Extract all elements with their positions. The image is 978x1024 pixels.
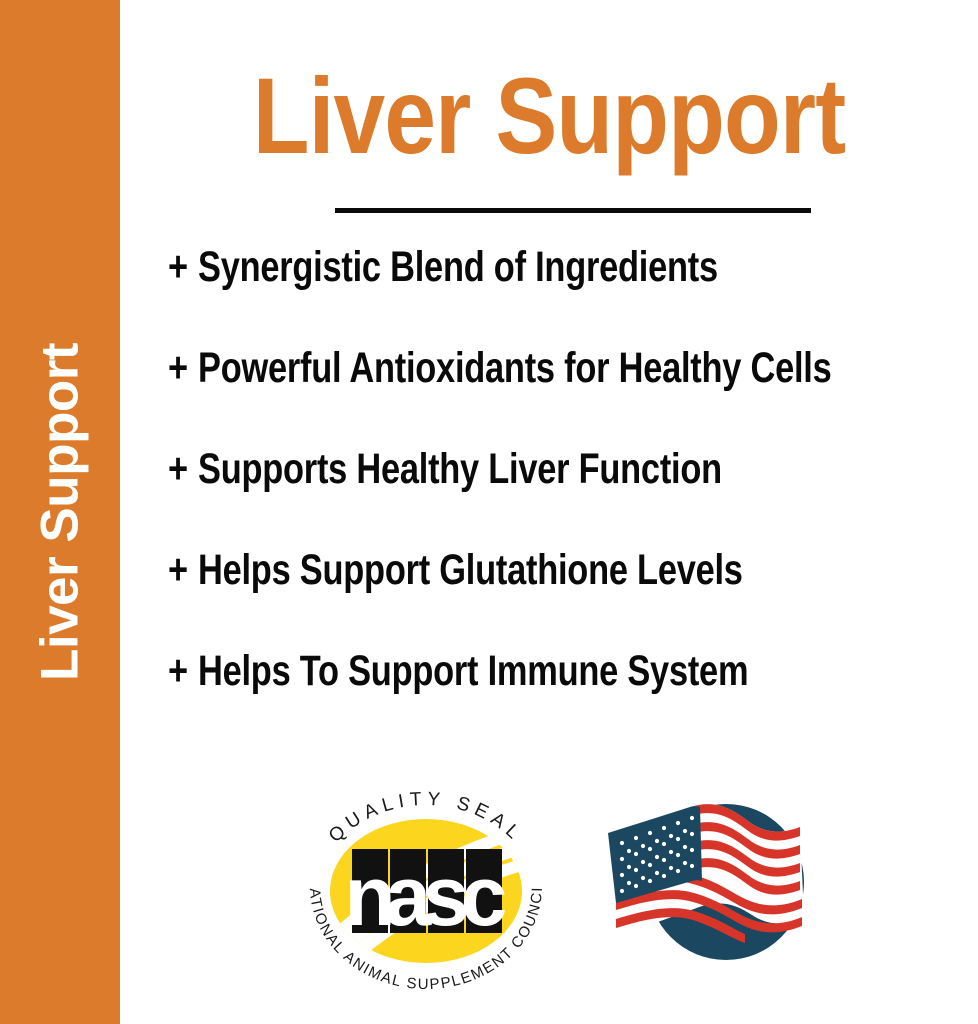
sidebar-vertical-product-name: Liver Support <box>30 343 91 681</box>
nasc-wordmark: n a s c <box>344 849 507 943</box>
plus-icon: + <box>168 549 189 592</box>
list-item: + Helps To Support Immune System <box>168 650 978 751</box>
page-title: Liver Support <box>180 62 918 170</box>
list-item: + Supports Healthy Liver Function <box>168 448 978 549</box>
list-item: + Helps Support Glutathione Levels <box>168 549 978 650</box>
list-item: + Synergistic Blend of Ingredients <box>168 246 978 347</box>
benefits-list: + Synergistic Blend of Ingredients + Pow… <box>168 246 978 751</box>
benefit-label: Supports Healthy Liver Function <box>198 448 722 491</box>
benefit-label: Helps Support Glutathione Levels <box>198 549 743 592</box>
sidebar-orange-band: Liver Support <box>0 0 120 1024</box>
benefit-label: Powerful Antioxidants for Healthy Cells <box>198 347 832 390</box>
benefit-label: Synergistic Blend of Ingredients <box>198 246 718 289</box>
benefit-label: Helps To Support Immune System <box>198 650 748 693</box>
plus-icon: + <box>168 650 189 693</box>
svg-text:c: c <box>461 849 508 943</box>
nasc-quality-seal-icon: n a s c QUALITY SEAL NATIONAL ANIMAL SUP… <box>290 783 562 983</box>
certification-logo-strip: n a s c QUALITY SEAL NATIONAL ANIMAL SUP… <box>120 775 978 990</box>
american-flag-icon <box>598 785 848 980</box>
plus-icon: + <box>168 448 189 491</box>
product-label-panel: Liver Support Liver Support + Synergisti… <box>0 0 978 1024</box>
plus-icon: + <box>168 347 189 390</box>
label-content-area: Liver Support + Synergistic Blend of Ing… <box>120 0 978 1024</box>
title-divider-rule <box>335 208 811 213</box>
plus-icon: + <box>168 246 189 289</box>
list-item: + Powerful Antioxidants for Healthy Cell… <box>168 347 978 448</box>
